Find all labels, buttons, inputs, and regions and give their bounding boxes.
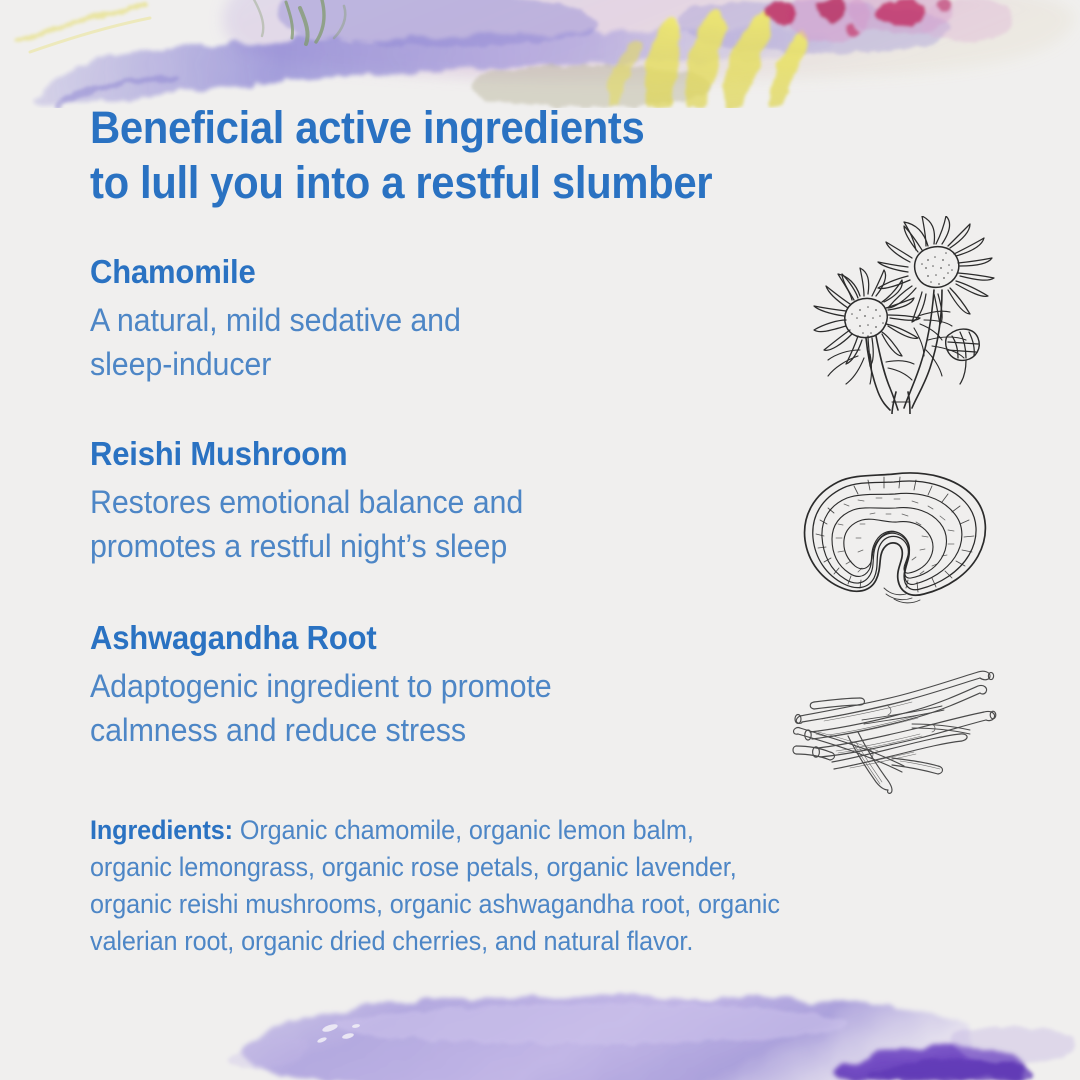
ingredient-block-chamomile: Chamomile A natural, mild sedative and s… xyxy=(90,252,880,386)
ingredient-desc-line: Restores emotional balance and xyxy=(90,480,841,524)
page-title: Beneficial active ingredients to lull yo… xyxy=(90,100,825,210)
ingredient-desc-line: A natural, mild sedative and xyxy=(90,298,841,342)
ingredient-desc-line: Adaptogenic ingredient to promote xyxy=(90,664,841,708)
page-title-line-1: Beneficial active ingredients xyxy=(90,100,825,155)
infographic-page: Beneficial active ingredients to lull yo… xyxy=(0,0,1080,1080)
ingredient-desc-line: promotes a restful night’s sleep xyxy=(90,524,841,568)
ingredient-desc-reishi-mushroom: Restores emotional balance and promotes … xyxy=(90,480,841,568)
ingredient-desc-ashwagandha-root: Adaptogenic ingredient to promote calmne… xyxy=(90,664,841,752)
ingredient-desc-line: calmness and reduce stress xyxy=(90,708,841,752)
ingredients-text: Organic chamomile, organic lemon balm, xyxy=(233,815,694,845)
ingredients-list: Ingredients: Organic chamomile, organic … xyxy=(90,812,964,960)
ingredients-line-2: organic lemongrass, organic rose petals,… xyxy=(90,849,964,886)
ingredients-label: Ingredients: xyxy=(90,815,233,845)
ingredient-desc-chamomile: A natural, mild sedative and sleep-induc… xyxy=(90,298,841,386)
ingredient-title-reishi-mushroom: Reishi Mushroom xyxy=(90,434,833,474)
chamomile-flower-icon xyxy=(800,216,1005,414)
top-watercolor-art xyxy=(0,0,1080,108)
ashwagandha-root-icon xyxy=(792,662,1000,794)
ingredients-line-4: valerian root, organic dried cherries, a… xyxy=(90,923,964,960)
ingredients-line-1: Ingredients: Organic chamomile, organic … xyxy=(90,812,964,849)
ingredient-block-reishi-mushroom: Reishi Mushroom Restores emotional balan… xyxy=(90,434,880,568)
ingredient-title-chamomile: Chamomile xyxy=(90,252,833,292)
ingredient-desc-line: sleep-inducer xyxy=(90,342,841,386)
top-watercolor-banner xyxy=(0,0,1080,108)
page-title-line-2: to lull you into a restful slumber xyxy=(90,155,825,210)
ingredients-line-3: organic reishi mushrooms, organic ashwag… xyxy=(90,886,964,923)
bottom-watercolor-art xyxy=(0,984,1080,1080)
ingredient-title-ashwagandha-root: Ashwagandha Root xyxy=(90,618,833,658)
ingredient-block-ashwagandha-root: Ashwagandha Root Adaptogenic ingredient … xyxy=(90,618,880,752)
bottom-watercolor-banner xyxy=(0,984,1080,1080)
reishi-mushroom-icon xyxy=(798,468,993,608)
